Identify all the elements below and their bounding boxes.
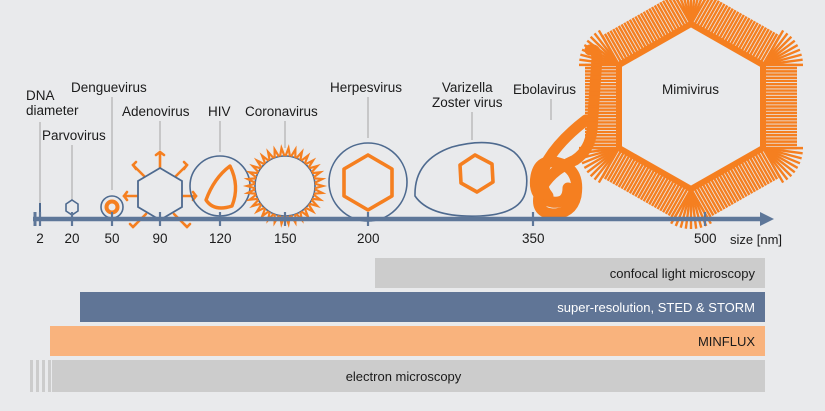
virus-label-mimivirus: Mimivirus	[662, 82, 719, 97]
method-label-confocal: confocal light microscopy	[610, 266, 755, 281]
method-label-minflux: MINFLUX	[698, 334, 755, 349]
axis-tick-label-500: 500	[694, 231, 716, 246]
virus-label-adenovirus: Adenovirus	[122, 104, 190, 119]
virus-label-herpesvirus: Herpesvirus	[330, 80, 402, 95]
virus-label-varizella-zoster: Varizella Zoster virus	[432, 80, 503, 110]
axis-tick-label-50: 50	[101, 231, 123, 246]
virus-label-parvovirus: Parvovirus	[42, 128, 106, 143]
virus-label-ebolavirus: Ebolavirus	[513, 82, 576, 97]
axis-unit-label: size [nm]	[730, 232, 782, 247]
axis-tick-label-20: 20	[61, 231, 83, 246]
corona-spike	[247, 184, 255, 188]
corona-spike	[280, 148, 284, 156]
shape-mimivirus	[579, 0, 803, 229]
shape-hiv	[190, 156, 250, 216]
axis-tick-label-200: 200	[357, 231, 379, 246]
axis-tick-label-120: 120	[209, 231, 231, 246]
virus-label-hiv: HIV	[208, 104, 231, 119]
fade-stripe-1	[30, 360, 33, 392]
shape-varizella-zoster	[415, 143, 527, 217]
virus-size-diagram: DNA diameter Parvovirus Denguevirus Aden…	[0, 0, 825, 411]
method-bar-electron-microscopy[interactable]: electron microscopy	[52, 360, 765, 392]
corona-spike	[286, 148, 290, 156]
method-bar-super-resolution[interactable]: super-resolution, STED & STORM	[80, 292, 765, 322]
shape-herpesvirus	[329, 143, 407, 221]
fade-stripe-2	[36, 360, 39, 392]
virus-label-denguevirus: Denguevirus	[71, 80, 147, 95]
corona-spike	[315, 184, 323, 188]
axis-tick-label-2: 2	[29, 231, 51, 246]
method-bar-minflux[interactable]: MINFLUX	[50, 326, 765, 356]
fade-stripe-3	[42, 360, 45, 392]
axis-tick-label-90: 90	[149, 231, 171, 246]
electron-microscopy-fade-stripes	[30, 360, 52, 392]
method-label-electron-microscopy: electron microscopy	[346, 369, 462, 384]
method-label-super-resolution: super-resolution, STED & STORM	[557, 300, 755, 315]
axis-tick-label-350: 350	[522, 231, 544, 246]
fade-stripe-4	[48, 360, 51, 392]
method-bar-confocal-light-microscopy[interactable]: confocal light microscopy	[375, 258, 765, 288]
virus-label-coronavirus: Coronavirus	[245, 104, 318, 119]
axis-tick-label-150: 150	[274, 231, 296, 246]
